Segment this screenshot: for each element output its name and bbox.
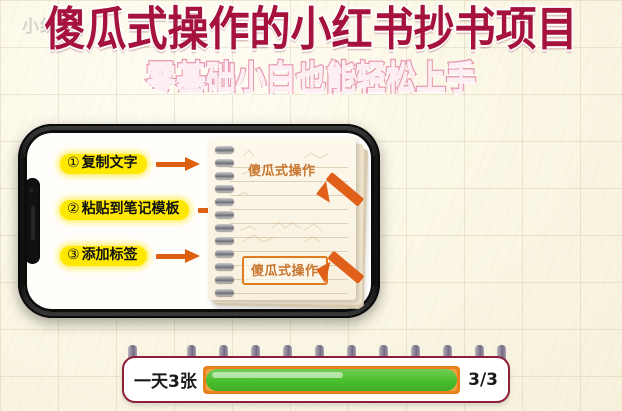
notebook-front-page: 傻瓜式操作 傻瓜式操作 — [208, 138, 356, 300]
notebook-heading: 傻瓜式操作 — [248, 160, 316, 179]
progress-card: 一天3张 3/3 — [122, 356, 510, 403]
step-label-3: 添加标签 — [82, 248, 138, 262]
notebook-illustration: 傻瓜式操作 傻瓜式操作 — [208, 138, 368, 310]
notebook-spiral-rings — [215, 144, 235, 296]
step-badge-1[interactable]: ①复制文字 — [60, 154, 147, 174]
step-number-1: ① — [67, 156, 80, 170]
step-badge-3[interactable]: ③添加标签 — [60, 246, 147, 266]
progress-track — [206, 369, 457, 391]
step-label-1: 复制文字 — [82, 156, 138, 170]
page-title: 傻瓜式操作的小红书抄书项目 — [0, 8, 622, 51]
speaker-icon — [31, 206, 35, 240]
notebook-tag-label: 傻瓜式操作 — [251, 264, 319, 279]
step-number-2: ② — [67, 202, 80, 216]
step-number-3: ③ — [67, 248, 80, 262]
page-subtitle: 零基础小白也能轻松上手 — [0, 63, 622, 95]
progress-count: 3/3 — [468, 370, 498, 390]
phone-notch-icon — [25, 178, 40, 264]
camera-icon — [29, 188, 34, 193]
progress-gloss — [212, 372, 343, 378]
progress-label: 一天3张 — [134, 367, 197, 392]
poster-canvas: 小红书 傻瓜式操作的小红书抄书项目 零基础小白也能轻松上手 ①复制文字 — [0, 0, 622, 411]
page-title-text: 傻瓜式操作的小红书抄书项目 — [45, 5, 578, 55]
step-badge-2[interactable]: ②粘贴到笔记模板 — [60, 200, 189, 220]
arrow-right-icon — [156, 252, 200, 260]
step-label-2: 粘贴到笔记模板 — [82, 202, 180, 216]
phone-screen: ①复制文字 ②粘贴到笔记模板 ③添加标签 — [24, 130, 374, 312]
arrow-right-icon — [156, 160, 200, 168]
progress-bar[interactable] — [203, 366, 460, 394]
page-subtitle-text: 零基础小白也能轻松上手 — [146, 61, 476, 97]
phone-mockup: ①复制文字 ②粘贴到笔记模板 ③添加标签 — [18, 124, 380, 318]
progress-fill — [206, 369, 457, 391]
